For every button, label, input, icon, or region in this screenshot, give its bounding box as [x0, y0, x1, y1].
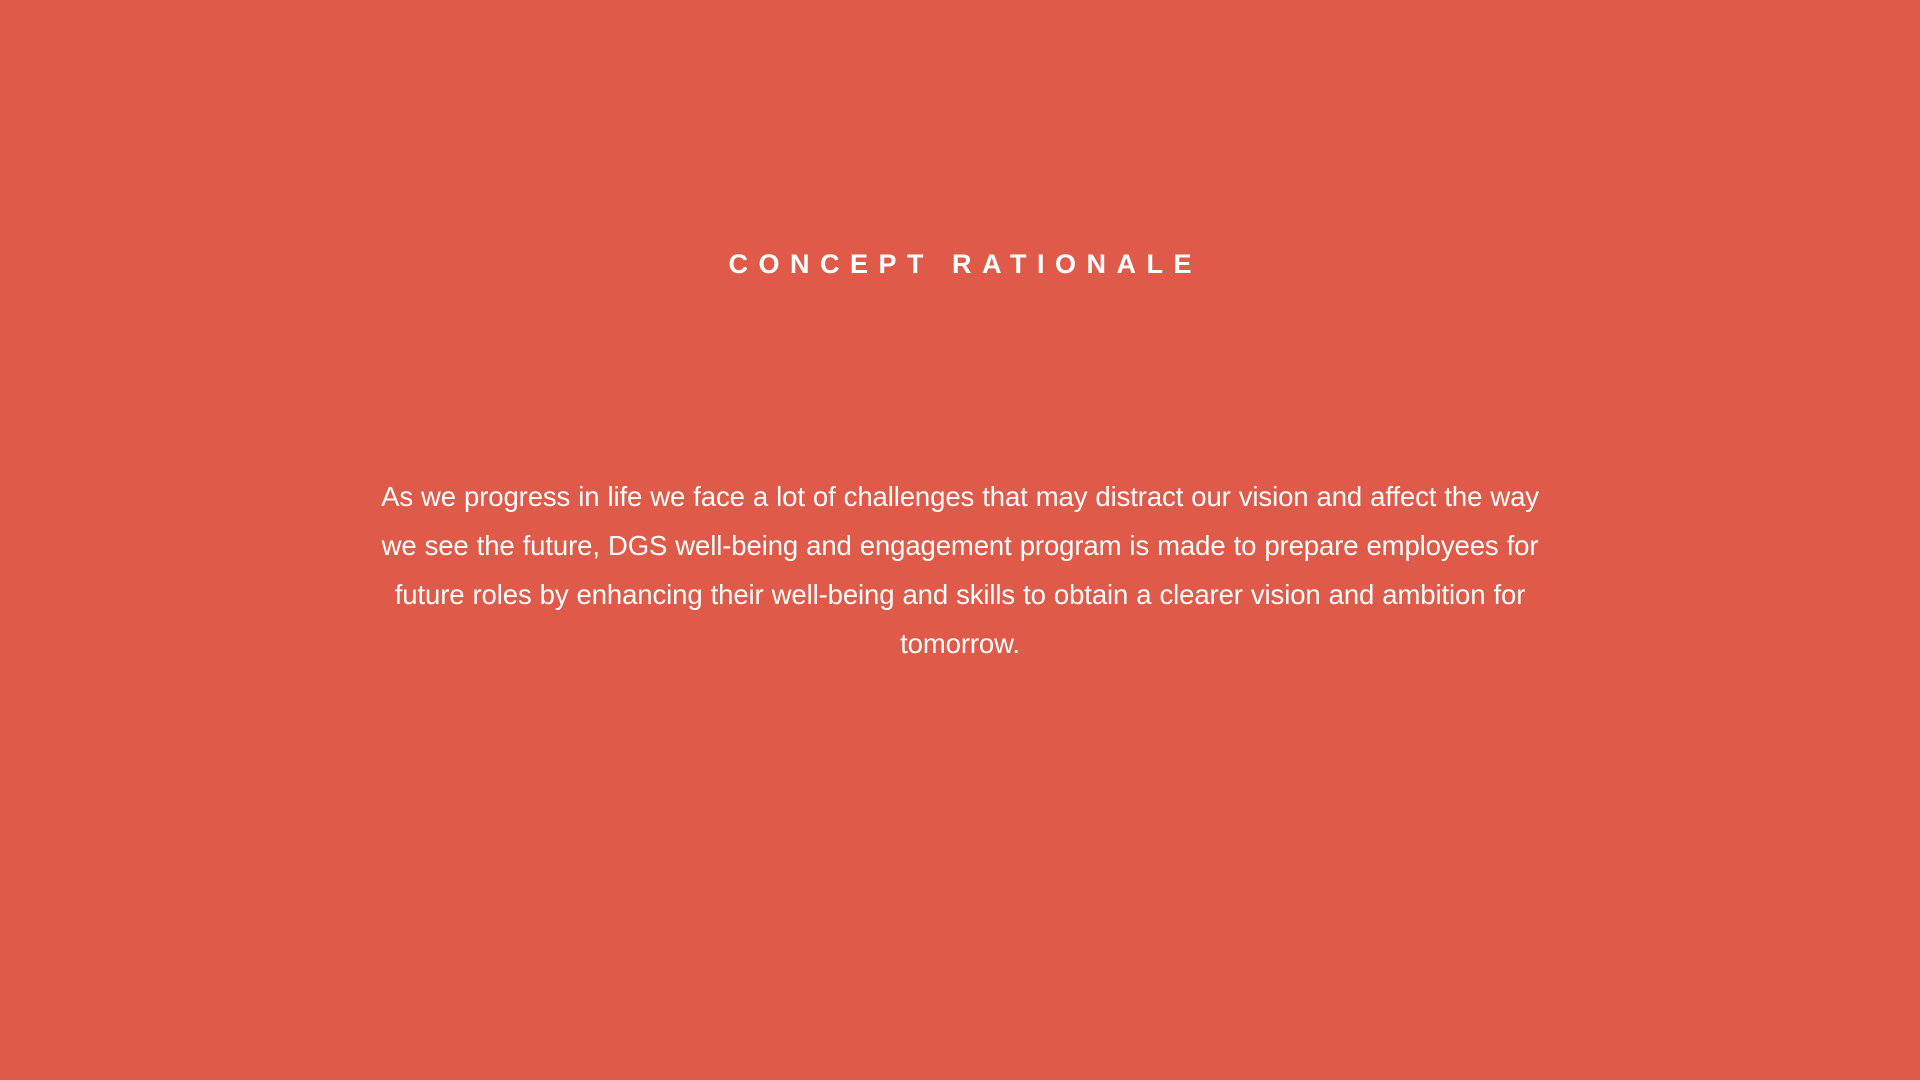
rationale-paragraph: As we progress in life we face a lot of …: [378, 472, 1543, 668]
slide-canvas: CONCEPT RATIONALE As we progress in life…: [0, 0, 1920, 1080]
heading-block: CONCEPT RATIONALE: [0, 250, 1920, 280]
body-block: As we progress in life we face a lot of …: [378, 472, 1543, 668]
page-title: CONCEPT RATIONALE: [718, 250, 1202, 280]
